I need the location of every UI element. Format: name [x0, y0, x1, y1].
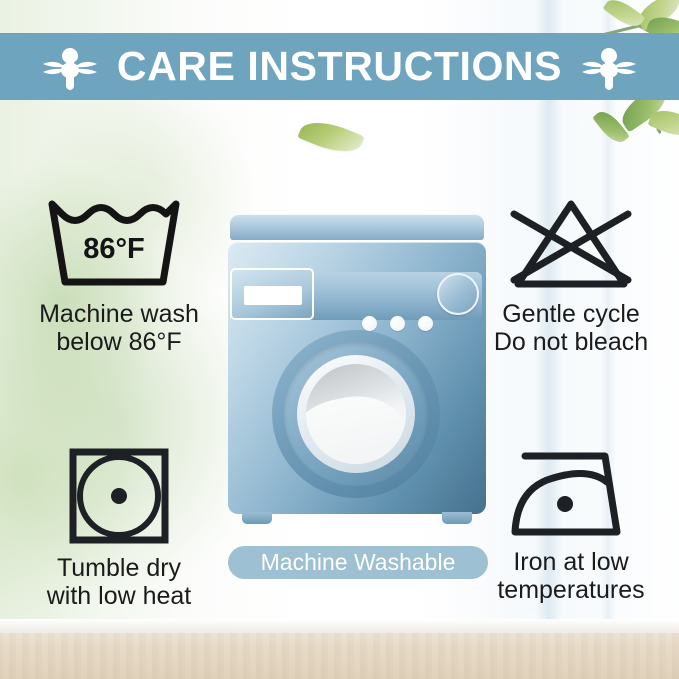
- control-button[interactable]: [418, 316, 433, 331]
- care-symbol-label: Tumble dry with low heat: [8, 554, 230, 610]
- care-instructions-card: CARE INSTRUCTIONS 86°F Machine wash belo…: [0, 0, 679, 679]
- machine-door[interactable]: [272, 330, 440, 498]
- fleur-de-lis-icon: [580, 43, 638, 91]
- care-symbol-label: Iron at low temperatures: [468, 548, 674, 604]
- fleur-de-lis-icon: [41, 43, 99, 91]
- iron-one-dot-icon: [501, 446, 641, 540]
- table-surface: [0, 633, 679, 679]
- machine-top-panel: [230, 214, 484, 240]
- machine-door-glass: [306, 364, 406, 464]
- detergent-drawer[interactable]: [230, 268, 314, 320]
- care-symbol-label: Machine wash below 86°F: [8, 300, 230, 356]
- detergent-drawer-slot: [244, 286, 302, 305]
- machine-foot: [442, 512, 472, 524]
- machine-door-rim: [297, 355, 415, 473]
- wash-tub-icon: 86°F: [44, 196, 194, 292]
- header-banner: CARE INSTRUCTIONS: [0, 33, 679, 100]
- washing-machine-illustration: [228, 214, 486, 534]
- control-knob[interactable]: [437, 273, 479, 315]
- machine-door-ring: [284, 342, 428, 486]
- care-symbol-label: Gentle cycle Do not bleach: [468, 300, 674, 356]
- care-symbol-machine-wash: 86°F Machine wash below 86°F: [8, 196, 230, 356]
- control-button[interactable]: [362, 316, 377, 331]
- machine-foot: [242, 512, 272, 524]
- care-symbol-do-not-bleach: Gentle cycle Do not bleach: [468, 196, 674, 356]
- machine-washable-badge: Machine Washable: [228, 546, 488, 579]
- table-edge: [0, 619, 679, 633]
- wash-temperature-value: 86°F: [83, 233, 145, 265]
- machine-body: [228, 242, 486, 514]
- page-title: CARE INSTRUCTIONS: [117, 46, 562, 87]
- care-symbol-tumble-dry: Tumble dry with low heat: [8, 446, 230, 610]
- care-symbol-iron: Iron at low temperatures: [468, 446, 674, 604]
- crossed-triangle-icon: [496, 196, 646, 292]
- tumble-dry-low-icon: [67, 446, 171, 546]
- glass-highlight: [306, 387, 406, 464]
- control-button[interactable]: [390, 316, 405, 331]
- badge-label: Machine Washable: [261, 551, 456, 574]
